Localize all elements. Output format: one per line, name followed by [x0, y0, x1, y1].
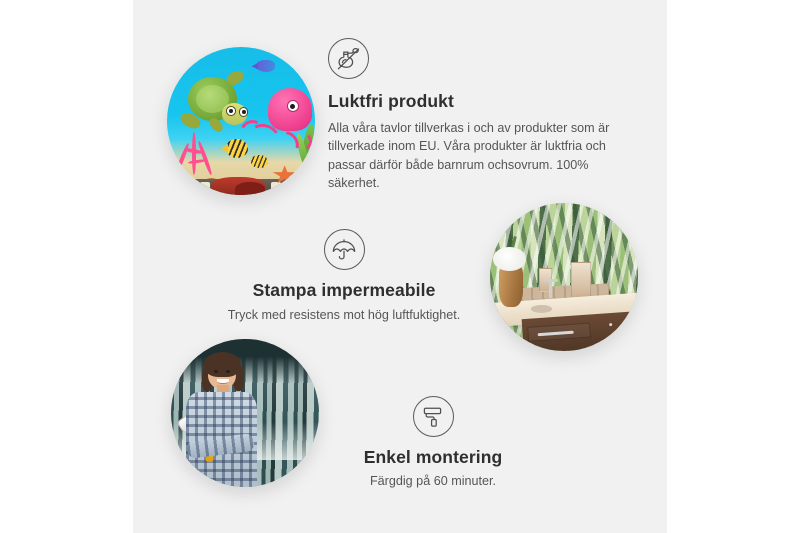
- feature-panel-canvas: Luktfri produkt Alla våra tavlor tillver…: [133, 0, 667, 533]
- no-fragrance-spray-icon: [328, 38, 369, 79]
- feature-description: Färgdig på 60 minuter.: [318, 472, 548, 491]
- feature-description: Alla våra tavlor tillverkas i och av pro…: [328, 119, 628, 193]
- underwater-cartoon-mural-photo: [167, 47, 315, 195]
- feature-block-waterproof: Stampa impermeabile Tryck med resistens …: [213, 229, 475, 324]
- feature-title: Stampa impermeabile: [213, 280, 475, 302]
- screenshot-root: Luktfri produkt Alla våra tavlor tillver…: [0, 0, 800, 533]
- feature-title: Luktfri produkt: [328, 91, 628, 113]
- paint-roller-icon: [413, 396, 454, 437]
- woman-with-paint-roller-photo: [171, 339, 319, 487]
- umbrella-icon: [324, 229, 365, 270]
- feature-description: Tryck med resistens mot hög luftfuktighe…: [213, 306, 475, 325]
- feature-block-assembly: Enkel montering Färgdig på 60 minuter.: [318, 396, 548, 490]
- feature-title: Enkel montering: [318, 447, 548, 469]
- feature-block-odourless: Luktfri produkt Alla våra tavlor tillver…: [328, 38, 628, 193]
- bathroom-leaf-wallpaper-photo: [490, 203, 638, 351]
